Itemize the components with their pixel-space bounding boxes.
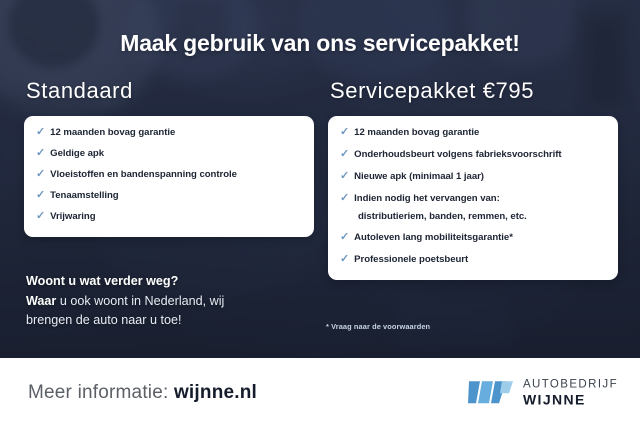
- column-servicepakket: Servicepakket €795 ✓ 12 maanden bovag ga…: [328, 78, 618, 280]
- check-icon: ✓: [36, 169, 45, 180]
- brand-logo-line2: WIJNNE: [523, 392, 618, 406]
- footer-more-info-prefix: Meer informatie:: [28, 382, 174, 403]
- brand-logo: AUTOBEDRIJF WIJNNE: [468, 379, 618, 407]
- list-item: ✓ 12 maanden bovag garantie: [340, 127, 604, 139]
- brand-logo-wordmark: AUTOBEDRIJF WIJNNE: [523, 379, 618, 407]
- list-item: ✓ Geldige apk: [36, 148, 300, 160]
- poster-content: Maak gebruik van ons servicepakket! Stan…: [0, 0, 640, 358]
- list-item: ✓ Vrijwaring: [36, 211, 300, 223]
- delivery-message-heading: Woont u wat verder weg?: [26, 274, 178, 288]
- list-item: ✓ Vloeistoffen en bandenspanning control…: [36, 169, 300, 181]
- list-item-label: Professionele poetsbeurt: [354, 254, 468, 266]
- check-icon: ✓: [340, 232, 349, 243]
- brand-logo-line1: AUTOBEDRIJF: [523, 379, 618, 391]
- check-icon: ✓: [340, 149, 349, 160]
- list-item-label: Onderhoudsbeurt volgens fabrieksvoorschr…: [354, 149, 561, 161]
- page-title: Maak gebruik van ons servicepakket!: [0, 30, 640, 57]
- check-icon: ✓: [36, 190, 45, 201]
- list-item: ✓ 12 maanden bovag garantie: [36, 127, 300, 139]
- list-item-label: Tenaamstelling: [50, 190, 118, 202]
- check-icon: ✓: [340, 254, 349, 265]
- footer-website-link[interactable]: wijnne.nl: [174, 382, 257, 403]
- delivery-message: Woont u wat verder weg? Waar u ook woont…: [26, 272, 326, 331]
- list-item-label: Indien nodig het vervangen van:: [354, 193, 500, 205]
- footer-bar: Meer informatie: wijnne.nl AUTOBEDRIJF W…: [0, 358, 640, 427]
- list-item-label: Geldige apk: [50, 148, 104, 160]
- feature-card-servicepakket: ✓ 12 maanden bovag garantie ✓ Onderhouds…: [328, 116, 618, 280]
- list-item-label: 12 maanden bovag garantie: [50, 127, 175, 139]
- column-title-servicepakket: Servicepakket €795: [330, 78, 618, 104]
- check-icon: ✓: [36, 148, 45, 159]
- list-item: ✓ Indien nodig het vervangen van:: [340, 193, 604, 205]
- list-item-label: Vrijwaring: [50, 211, 95, 223]
- list-item: ✓ Nieuwe apk (minimaal 1 jaar): [340, 171, 604, 183]
- check-icon: ✓: [340, 171, 349, 182]
- service-package-poster: Maak gebruik van ons servicepakket! Stan…: [0, 0, 640, 427]
- list-item: ✓ Onderhoudsbeurt volgens fabrieksvoorsc…: [340, 149, 604, 161]
- list-item: ✓ Autoleven lang mobiliteitsgarantie*: [340, 232, 604, 244]
- delivery-message-emphasis: Waar: [26, 294, 56, 308]
- footnote-conditions: * Vraag naar de voorwaarden: [326, 322, 430, 331]
- check-icon: ✓: [340, 127, 349, 138]
- delivery-message-line2: u ook woont in Nederland, wij: [56, 294, 224, 308]
- check-icon: ✓: [36, 127, 45, 138]
- list-item-label: Autoleven lang mobiliteitsgarantie*: [354, 232, 513, 244]
- check-icon: ✓: [36, 211, 45, 222]
- list-item: ✓ Professionele poetsbeurt: [340, 254, 604, 266]
- list-item-label: Nieuwe apk (minimaal 1 jaar): [354, 171, 484, 183]
- footer-more-info: Meer informatie: wijnne.nl: [28, 382, 257, 404]
- column-title-standaard: Standaard: [26, 78, 314, 104]
- list-item: ✓ Tenaamstelling: [36, 190, 300, 202]
- column-standaard: Standaard ✓ 12 maanden bovag garantie ✓ …: [24, 78, 314, 237]
- delivery-message-line3: brengen de auto naar u toe!: [26, 313, 181, 327]
- list-item-sublabel: distributieriem, banden, remmen, etc.: [358, 211, 604, 222]
- feature-card-standaard: ✓ 12 maanden bovag garantie ✓ Geldige ap…: [24, 116, 314, 237]
- check-icon: ✓: [340, 193, 349, 204]
- list-item-label: 12 maanden bovag garantie: [354, 127, 479, 139]
- wijnne-w-mark-icon: [468, 380, 514, 406]
- list-item-label: Vloeistoffen en bandenspanning controle: [50, 169, 237, 181]
